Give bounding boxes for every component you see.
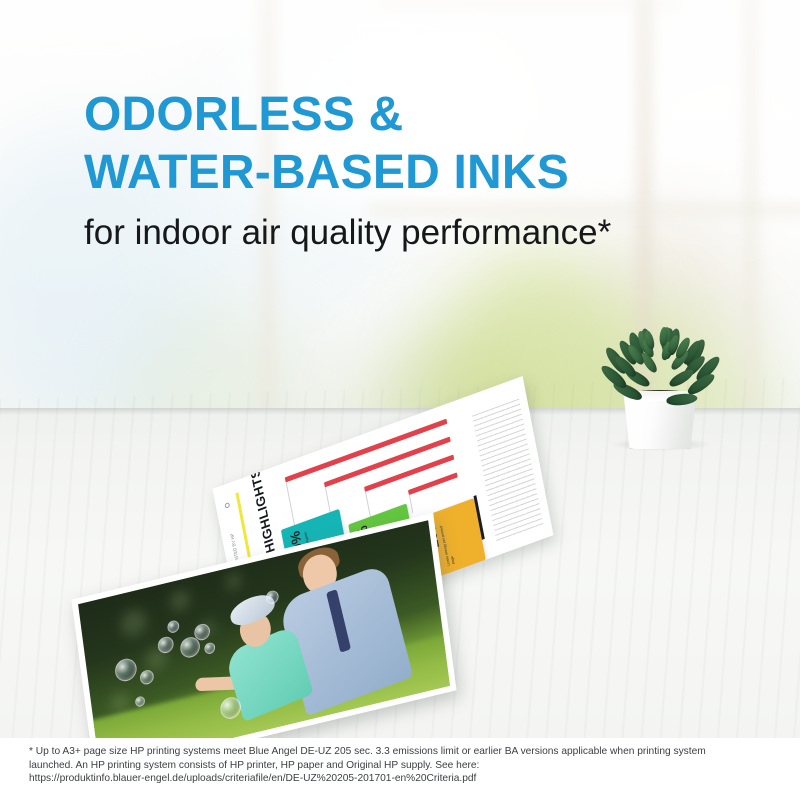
footnote: * Up to A3+ page size HP printing system…: [29, 745, 777, 786]
potted-succulent: [596, 306, 728, 442]
footnote-line-1: * Up to A3+ page size HP printing system…: [29, 745, 777, 759]
photo-bubble: [135, 695, 146, 707]
chart-bar: [364, 454, 454, 491]
footnote-line-3: https://produktinfo.blauer-engel.de/uplo…: [29, 772, 777, 786]
photo-bokeh-dot: [110, 691, 130, 713]
photo-bubble: [204, 641, 216, 655]
photo-bubble: [139, 669, 154, 686]
photo-bokeh-dot: [169, 588, 191, 613]
marketing-image-canvas: ODORLESS & WATER-BASED INKS for indoor a…: [0, 0, 800, 800]
subheadline: for indoor air quality performance*: [84, 212, 611, 254]
headline-line-2: WATER-BASED INKS: [84, 146, 744, 200]
photo-bubble: [167, 619, 180, 634]
brochure-logo-icon: [224, 502, 230, 509]
photo-bokeh-dot: [225, 572, 243, 592]
photo-bubble: [265, 589, 279, 605]
headline: ODORLESS & WATER-BASED INKS: [84, 88, 744, 200]
photo-bokeh-dot: [119, 607, 148, 639]
photo-bubble: [114, 656, 138, 683]
chart-bar: [408, 472, 457, 495]
headline-line-1: ODORLESS &: [84, 88, 744, 142]
footnote-line-2: launched. An HP printing system consists…: [29, 759, 777, 773]
stat-caption: Lower energy per printed page: [438, 510, 472, 567]
chart-tick: [409, 495, 413, 513]
